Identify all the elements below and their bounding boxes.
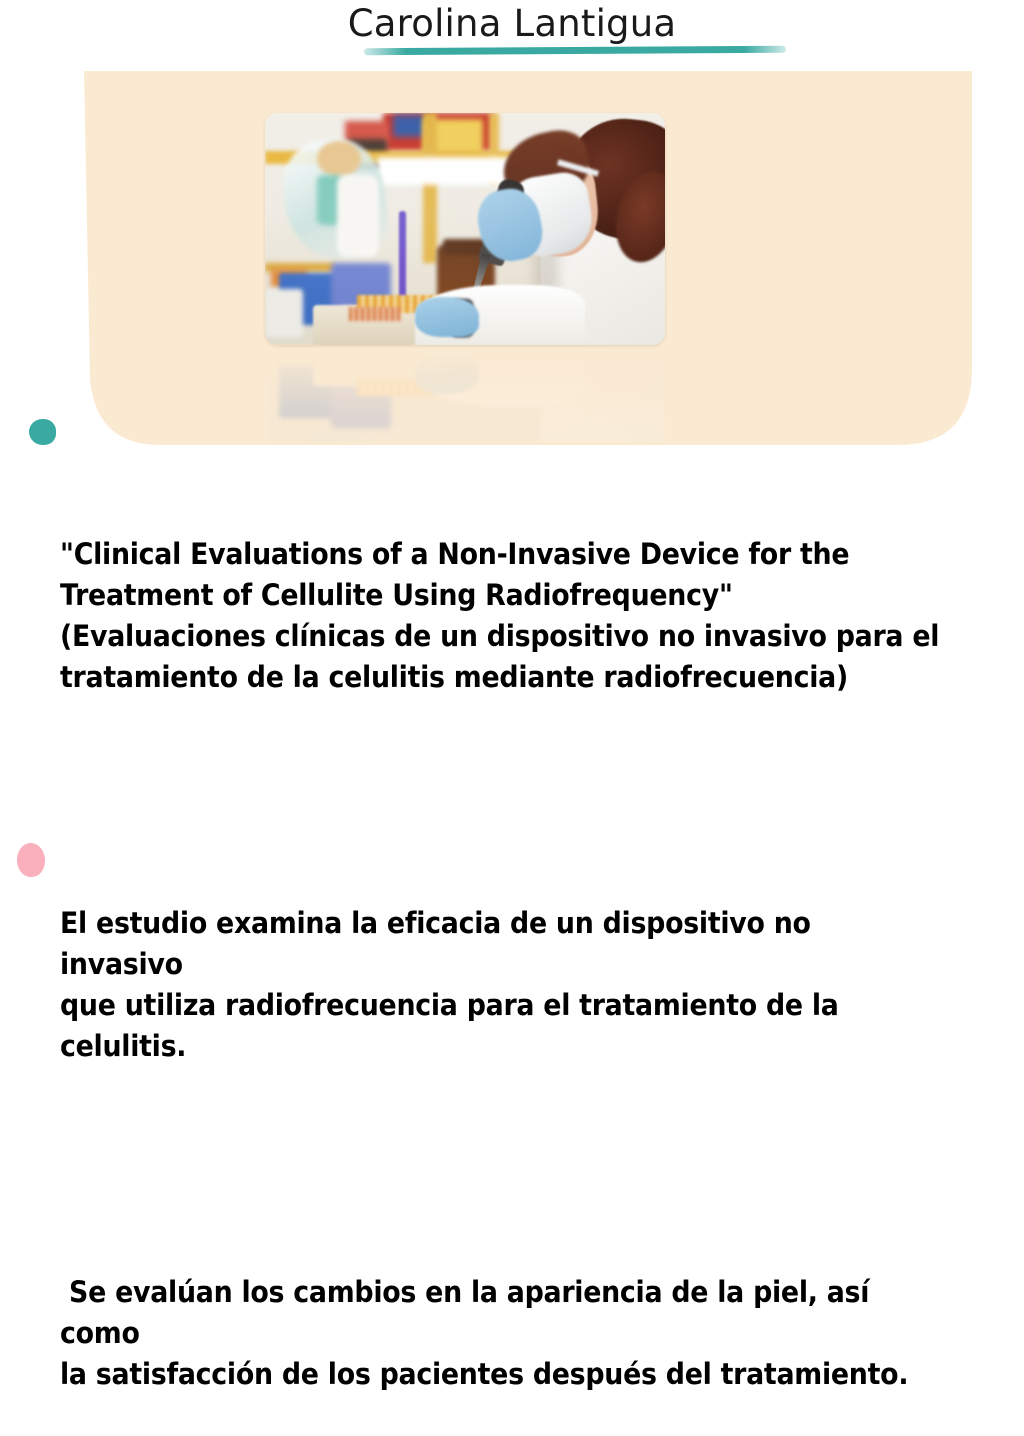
page-title: Carolina Lantigua: [0, 2, 1024, 46]
title-underline-stroke: [364, 46, 786, 56]
paragraph-spacer-2: [60, 1149, 941, 1190]
reflection-glove: [415, 354, 479, 394]
photo-soft-light: [265, 113, 665, 345]
paragraph-study-title: "Clinical Evaluations of a Non-Invasive …: [60, 534, 941, 698]
paragraph-spacer-1: [60, 780, 941, 821]
photo-mirror-reflection: [265, 346, 665, 442]
paragraph-study-summary: El estudio examina la eficacia de un dis…: [60, 903, 941, 1067]
lab-scientist-photo: [265, 113, 665, 345]
body-text-block: "Clinical Evaluations of a Non-Invasive …: [60, 452, 941, 1436]
teal-accent-dot: [29, 419, 56, 445]
pink-accent-dot: [17, 843, 45, 877]
paragraph-study-outcomes: Se evalúan los cambios en la apariencia …: [60, 1272, 941, 1395]
